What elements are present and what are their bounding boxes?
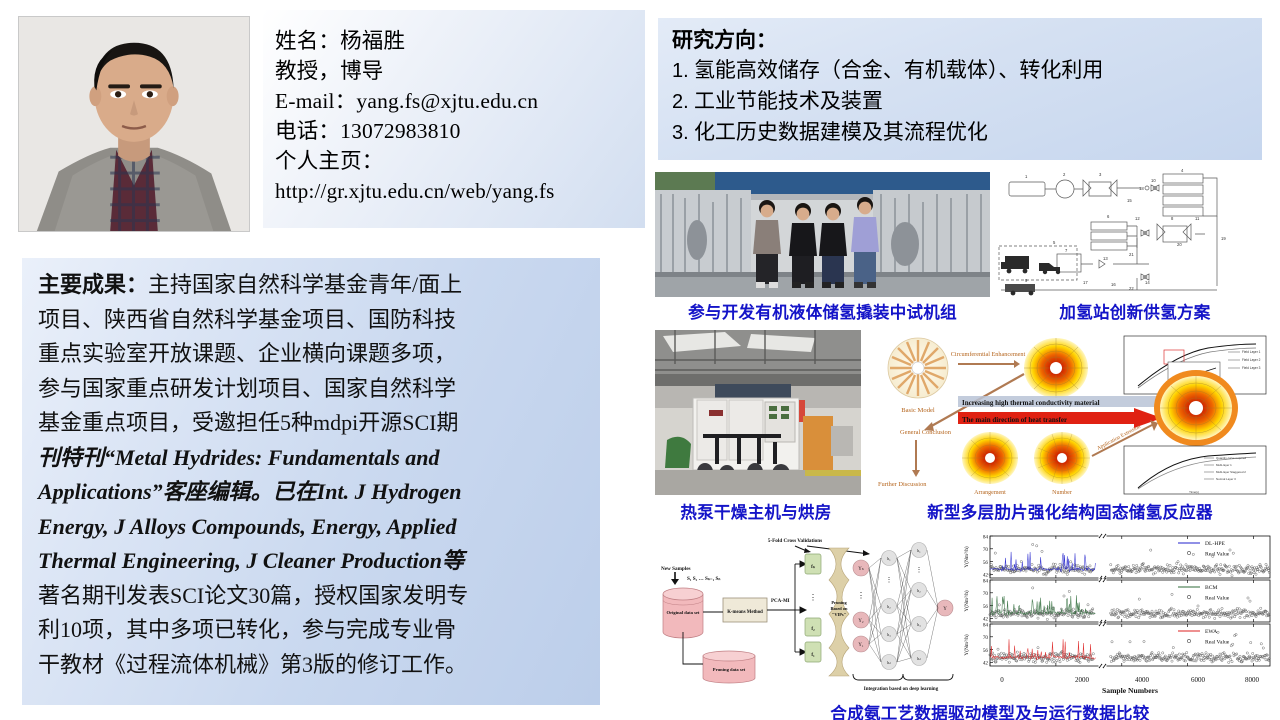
y-axis-label: Y(Nm³/h)	[963, 590, 970, 612]
svg-text:21: 21	[1129, 252, 1134, 257]
legend-real-EWA: Real Value	[1205, 640, 1230, 646]
svg-text:hₙ: hₙ	[887, 660, 891, 665]
xtick-0: 0	[1000, 676, 1004, 684]
svg-text:Multi-layer Staggered 2: Multi-layer Staggered 2	[1216, 470, 1246, 474]
nn-label-cross-validation: 5-Fold Cross Validations	[768, 538, 822, 544]
label-main-direction: The main direction of heat transfer	[962, 416, 1067, 424]
svg-text:42: 42	[983, 661, 989, 667]
svg-text:h₁: h₁	[917, 548, 921, 553]
chart-panel-BCM: 42567084Y(Nm³/h)BCMReal Value	[963, 578, 1270, 624]
svg-text:56: 56	[983, 604, 989, 610]
svg-text:Time(s): Time(s)	[1189, 490, 1199, 494]
svg-text:Field Layer 1: Field Layer 1	[1242, 350, 1261, 354]
nn-label-new-samples: New Samples	[661, 566, 691, 572]
achievements-line-6: 刊特刊“Metal Hydrides: Fundamentals and	[38, 441, 586, 476]
svg-text:Quantity curve required: Quantity curve required	[1216, 456, 1246, 460]
y-axis-label: Y(Nm³/h)	[963, 546, 970, 568]
x-axis-label: Sample Numbers	[1102, 686, 1158, 695]
profile-homepage-label: 个人主页：	[275, 146, 645, 176]
svg-text:12: 12	[1135, 216, 1140, 221]
achievements-line-11: 利10项，其中多项已转化，参与完成专业骨	[38, 613, 586, 648]
profile-title: 教授，博导	[275, 56, 645, 86]
nn-node-yn: Yₙ	[858, 567, 863, 572]
achievements-line-3: 重点实验室开放课题、企业横向课题多项，	[38, 337, 586, 372]
label-arrangement: Arrangement	[974, 490, 1006, 496]
svg-text:Field Layer 3: Field Layer 3	[1242, 366, 1261, 370]
svg-text:hₙ: hₙ	[917, 656, 921, 661]
scatter-chart-svg: 42567084Y(Nm³/h)DL-HPEReal Value42567084…	[960, 530, 1275, 696]
achievements-text-9: Thermal Engineering, J Cleaner Productio…	[38, 548, 464, 573]
svg-text:h₂: h₂	[917, 588, 921, 593]
research-item-1-number: 1.	[672, 60, 689, 82]
svg-text:70: 70	[983, 591, 989, 597]
achievements-line-9: Thermal Engineering, J Cleaner Productio…	[38, 544, 586, 579]
xtick-8000: 8000	[1245, 676, 1260, 684]
nn-node-y2: Y₂	[858, 619, 863, 624]
label-number: Number	[1052, 490, 1072, 496]
deep-learning-model-diagram: New Samples S₁ S₂ … Sₙ₋₁ Sₙ 5-Fold Cross…	[657, 528, 957, 696]
achievements-line-2: 项目、陕西省自然科学基金项目、国防科技	[38, 303, 586, 338]
achievements-line-8: Energy, J Alloys Compounds, Energy, Appl…	[38, 510, 586, 545]
team-photo-image	[655, 172, 990, 297]
achievements-box: 主要成果：主持国家自然科学基金青年/面上 项目、陕西省自然科学基金项目、国防科技…	[22, 258, 600, 705]
svg-text:13: 13	[1103, 256, 1108, 261]
nn-node-fn: fₙ	[811, 565, 815, 570]
profile-phone: 电话：13072983810	[275, 116, 645, 146]
y-axis-label: Y(Nm³/h)	[963, 634, 970, 656]
svg-text:70: 70	[983, 635, 989, 641]
research-item-2-number: 2.	[672, 91, 689, 113]
label-circumferential: Circumferential Enhancement	[951, 351, 1026, 358]
svg-text:84: 84	[983, 622, 989, 628]
svg-text:22: 22	[1129, 286, 1134, 291]
legend-model-BCM: BCM	[1205, 585, 1217, 591]
heat-pump-image	[655, 330, 861, 495]
svg-text:h₂: h₂	[887, 604, 891, 609]
svg-text:18: 18	[1139, 186, 1144, 191]
svg-text:Multi-layer 1: Multi-layer 1	[1216, 463, 1232, 467]
profile-name: 姓名：杨福胜	[275, 26, 645, 56]
achievements-label: 主要成果：	[38, 272, 148, 297]
profile-homepage-url[interactable]: http://gr.xjtu.edu.cn/web/yang.fs	[275, 176, 645, 206]
svg-text:10: 10	[1151, 178, 1156, 183]
svg-text:19: 19	[1221, 236, 1226, 241]
svg-text:17: 17	[1083, 280, 1088, 285]
research-item-3-text: 化工历史数据建模及其流程优化	[694, 120, 988, 144]
nn-label-kmeans: K-means Method	[727, 610, 763, 615]
achievements-text-7: Applications”客座编辑。已在Int. J Hydrogen	[38, 479, 462, 504]
nn-node-f1: f₁	[811, 653, 815, 658]
xtick-2000: 2000	[1075, 676, 1090, 684]
research-item-3: 3. 化工历史数据建模及其流程优化	[672, 117, 1262, 148]
portrait-photo	[18, 16, 250, 232]
achievements-text-1: 主持国家自然科学基金青年/面上	[148, 272, 462, 297]
label-further-discussion: Further Discussion	[878, 481, 927, 488]
nn-label-integration: Integration based on deep learning	[864, 687, 939, 692]
legend-model-DL-HPE: DL-HPE	[1205, 541, 1225, 547]
research-title: 研究方向：	[672, 26, 1262, 55]
caption-ammonia-model: 合成氨工艺数据驱动模型及与运行数据比较	[700, 700, 1280, 720]
ammonia-model-chart: 42567084Y(Nm³/h)DL-HPEReal Value42567084…	[960, 530, 1275, 696]
reactor-schematic: Basic Model Circumferential Enhancement	[866, 328, 1274, 496]
caption-reactor: 新型多层肋片强化结构固态储氢反应器	[866, 499, 1274, 523]
svg-text:⋮: ⋮	[886, 576, 893, 584]
profile-email[interactable]: E-mail：yang.fs@xjtu.edu.cn	[275, 86, 645, 116]
heat-pump-photo	[655, 330, 861, 495]
svg-text:16: 16	[1111, 282, 1116, 287]
svg-text:20: 20	[1177, 242, 1182, 247]
achievements-line-4: 参与国家重点研发计划项目、国家自然科学	[38, 372, 586, 407]
caption-team-photo: 参与开发有机液体储氢撬装中试机组	[655, 299, 990, 323]
research-item-1-text: 氢能高效储存（合金、有机载体）、转化利用	[694, 58, 1104, 82]
research-directions-box: 研究方向： 1. 氢能高效储存（合金、有机载体）、转化利用 2. 工业节能技术及…	[658, 18, 1262, 160]
svg-text:⋮: ⋮	[916, 566, 923, 574]
svg-text:Field Layer 2: Field Layer 2	[1242, 358, 1261, 362]
achievements-line-5: 基金重点项目，受邀担任5种mdpi开源SCI期	[38, 406, 586, 441]
nn-node-f2: f₂	[811, 627, 815, 632]
achievements-text-6: 刊特刊“Metal Hydrides: Fundamentals and	[38, 445, 440, 470]
label-increasing-conductivity: Increasing high thermal conductivity mat…	[962, 399, 1100, 407]
nn-label-samples-seq: S₁ S₂ … Sₙ₋₁ Sₙ	[687, 576, 720, 582]
team-photo	[655, 172, 990, 297]
nn-label-pruning-dataset: Pruning data set	[713, 667, 746, 672]
label-basic-model: Basic Model	[901, 407, 935, 414]
nn-label-pcami: PCA-MI	[771, 599, 790, 604]
nn-label-original-dataset: Original data set	[667, 610, 700, 615]
label-general-conclusion: General Conclusion	[900, 429, 952, 436]
profile-info-box: 姓名：杨福胜 教授，博导 E-mail：yang.fs@xjtu.edu.cn …	[263, 10, 645, 228]
svg-text:PruningBased on"VIPs": PruningBased on"VIPs"	[831, 600, 849, 617]
nn-node-y1: Y₁	[858, 643, 863, 648]
svg-text:h₁: h₁	[887, 556, 891, 561]
svg-text:15: 15	[1127, 198, 1132, 203]
research-item-2: 2. 工业节能技术及装置	[672, 86, 1262, 117]
svg-text:56: 56	[983, 560, 989, 566]
legend-real-BCM: Real Value	[1205, 596, 1230, 602]
legend-model-EWA: EWA	[1205, 629, 1217, 635]
svg-text:⋮: ⋮	[809, 593, 817, 602]
research-item-1: 1. 氢能高效储存（合金、有机载体）、转化利用	[672, 55, 1262, 86]
svg-text:14: 14	[1145, 280, 1150, 285]
legend-real-DL-HPE: Real Value	[1205, 552, 1230, 558]
chart-panel-EWA: 42567084Y(Nm³/h)EWAReal Value	[963, 622, 1270, 668]
svg-text:h₃: h₃	[887, 632, 891, 637]
caption-heat-pump: 热泵干燥主机与烘房	[650, 499, 862, 523]
nn-node-output-label: Y	[943, 607, 947, 612]
research-item-3-number: 3.	[672, 122, 689, 144]
flow-diagram-svg: 123 468 759 101112 131415 161718 192021 …	[995, 168, 1275, 298]
svg-text:⋮: ⋮	[857, 591, 865, 600]
svg-text:Normal Layer 3: Normal Layer 3	[1216, 477, 1236, 481]
nn-diagram-svg: New Samples S₁ S₂ … Sₙ₋₁ Sₙ 5-Fold Cross…	[657, 528, 957, 696]
xtick-4000: 4000	[1135, 676, 1150, 684]
achievements-line-1: 主要成果：主持国家自然科学基金青年/面上	[38, 268, 586, 303]
hydrogen-station-flow-diagram: 123 468 759 101112 131415 161718 192021 …	[995, 168, 1275, 298]
caption-flow-diagram: 加氢站创新供氢方案	[995, 299, 1275, 323]
achievements-line-10: 著名期刊发表SCI论文30篇，授权国家发明专	[38, 579, 586, 614]
chart-panel-DL-HPE: 42567084Y(Nm³/h)DL-HPEReal Value	[963, 534, 1270, 580]
svg-text:56: 56	[983, 648, 989, 654]
portrait-image	[19, 17, 249, 231]
svg-text:70: 70	[983, 547, 989, 553]
svg-text:84: 84	[983, 578, 989, 584]
reactor-schematic-svg: Basic Model Circumferential Enhancement	[866, 328, 1274, 496]
xtick-6000: 6000	[1191, 676, 1206, 684]
research-item-2-text: 工业节能技术及装置	[694, 89, 883, 113]
svg-text:11: 11	[1195, 216, 1200, 221]
achievements-line-7: Applications”客座编辑。已在Int. J Hydrogen	[38, 475, 586, 510]
achievements-line-12: 干教材《过程流体机械》第3版的修订工作。	[38, 648, 586, 683]
svg-text:84: 84	[983, 534, 989, 540]
slide-canvas: 姓名：杨福胜 教授，博导 E-mail：yang.fs@xjtu.edu.cn …	[0, 0, 1280, 720]
achievements-text-8: Energy, J Alloys Compounds, Energy, Appl…	[38, 514, 456, 539]
svg-text:h₃: h₃	[917, 622, 921, 627]
